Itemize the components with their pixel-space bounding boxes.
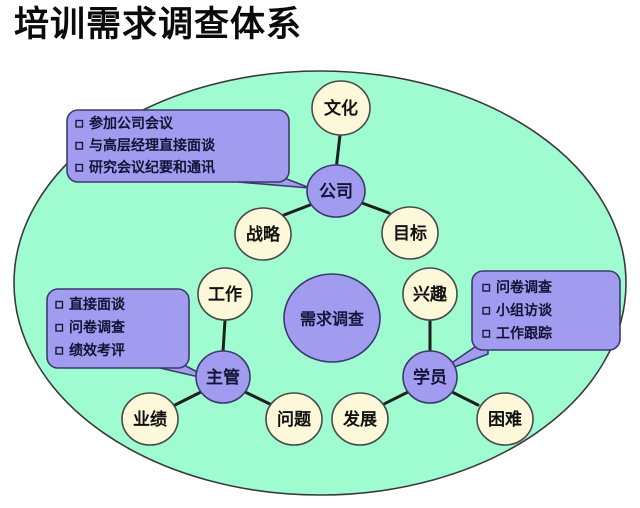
node-yeji-label: 业绩 [133, 409, 167, 430]
node-xueyuan[interactable]: 学员 [403, 351, 457, 403]
node-yeji[interactable]: 业绩 [122, 393, 178, 445]
node-fazhan-label: 发展 [342, 409, 377, 430]
node-wenti-label: 问题 [277, 409, 312, 430]
node-wenhua-label: 文化 [324, 98, 358, 119]
node-center-label: 需求调查 [300, 310, 364, 329]
node-gongzuo-label: 工作 [208, 284, 242, 305]
slide-canvas: 培训需求调查体系 参加公司会议 与高层经理直接面谈 研究会议纪要和通讯 [0, 0, 640, 508]
callout-xueyuan-item-1: 小组访谈 [496, 302, 553, 319]
node-zhuguan-label: 主管 [206, 367, 240, 388]
node-xingqu-label: 兴趣 [413, 284, 448, 305]
node-gongsi-label: 公司 [319, 182, 353, 202]
node-xueyuan-label: 学员 [413, 367, 447, 388]
callout-xueyuan-item-0: 问卷调查 [496, 279, 553, 296]
node-wenti[interactable]: 问题 [266, 393, 322, 445]
node-zhanlue[interactable]: 战略 [235, 208, 291, 260]
callout-zhuguan-item-1: 问卷调查 [69, 319, 126, 336]
node-kunnan-label: 困难 [488, 409, 522, 430]
node-kunnan[interactable]: 困难 [477, 393, 533, 445]
node-mubiao-label: 目标 [393, 223, 427, 244]
callout-xueyuan-item-2: 工作跟踪 [496, 325, 552, 342]
node-center[interactable]: 需求调查 [284, 274, 380, 362]
node-zhanlue-label: 战略 [246, 224, 281, 245]
node-xingqu[interactable]: 兴趣 [403, 268, 457, 320]
node-gongsi[interactable]: 公司 [307, 165, 365, 217]
mind-map-diagram: 参加公司会议 与高层经理直接面谈 研究会议纪要和通讯 直接面谈 问卷调查 绩效考… [0, 0, 640, 508]
node-zhuguan[interactable]: 主管 [196, 351, 250, 403]
node-mubiao[interactable]: 目标 [382, 207, 438, 259]
callout-gongsi-item-1: 与高层经理直接面谈 [89, 137, 216, 154]
callout-zhuguan-item-0: 直接面谈 [69, 296, 126, 313]
callout-zhuguan[interactable]: 直接面谈 问卷调查 绩效考评 [47, 289, 212, 380]
edge-gongzuo-zhuguan [223, 320, 225, 352]
callout-gongsi[interactable]: 参加公司会议 与高层经理直接面谈 研究会议纪要和通讯 [67, 110, 310, 188]
callout-zhuguan-item-2: 绩效考评 [69, 342, 125, 359]
node-gongzuo[interactable]: 工作 [198, 268, 252, 320]
node-wenhua[interactable]: 文化 [312, 81, 370, 135]
callout-gongsi-item-0: 参加公司会议 [89, 115, 174, 132]
node-fazhan[interactable]: 发展 [332, 393, 388, 445]
callout-gongsi-item-2: 研究会议纪要和通讯 [89, 159, 215, 176]
